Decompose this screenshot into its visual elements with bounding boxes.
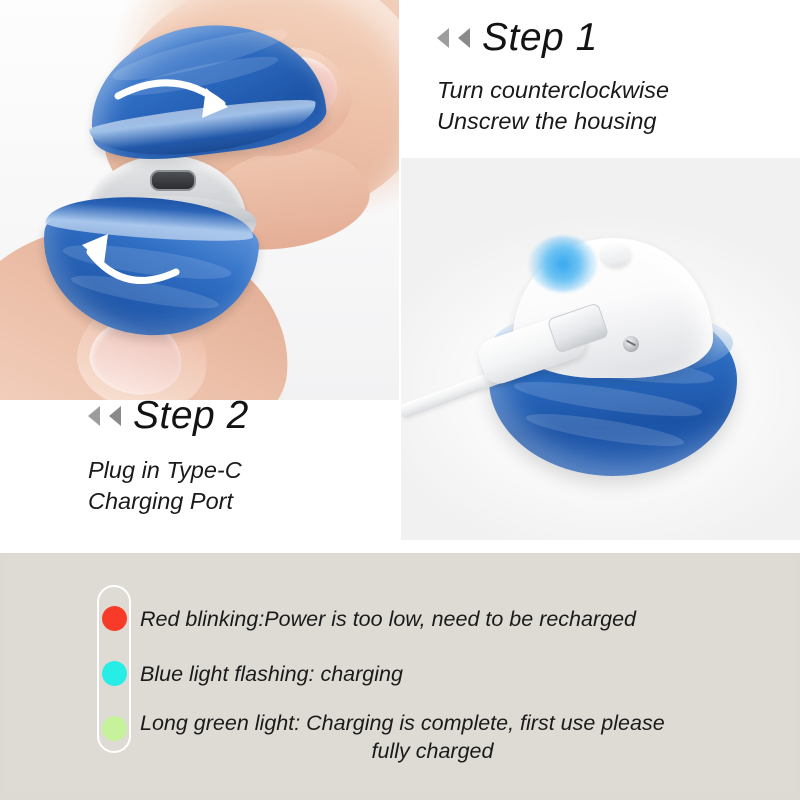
scene-charging xyxy=(401,158,800,540)
step-1-heading: Step 1 xyxy=(437,18,787,57)
step-1-title: Step 1 xyxy=(482,18,598,57)
step-2-description: Plug in Type-C Charging Port xyxy=(88,455,408,517)
step-1-description: Turn counterclockwise Unscrew the housin… xyxy=(437,75,787,137)
dome-button xyxy=(601,243,631,267)
product-instruction-sheet: Step 1 Turn counterclockwise Unscrew the… xyxy=(0,0,800,800)
step-2-text: Step 2 Plug in Type-C Charging Port xyxy=(88,396,408,517)
legend-text-red: Red blinking:Power is too low, need to b… xyxy=(140,606,740,634)
triangle-left-icon xyxy=(109,406,121,426)
legend-text-green: Long green light: Charging is complete, … xyxy=(140,710,725,766)
led-indicator-glow xyxy=(529,236,597,292)
screw-icon xyxy=(623,336,639,352)
legend-text-green-line2: fully charged xyxy=(140,738,725,766)
step-1-text: Step 1 Turn counterclockwise Unscrew the… xyxy=(437,18,787,137)
legend-text-green-line1: Long green light: Charging is complete, … xyxy=(140,710,725,738)
scene-unscrewing xyxy=(0,0,399,400)
rotation-arrows xyxy=(0,0,399,400)
step-2-title: Step 2 xyxy=(133,396,249,435)
triangle-left-icon xyxy=(437,28,449,48)
status-dot-green xyxy=(102,716,127,741)
legend-text-blue: Blue light flashing: charging xyxy=(140,661,740,689)
triangle-left-icon xyxy=(458,28,470,48)
step-2-heading: Step 2 xyxy=(88,396,408,435)
photo-charging xyxy=(401,158,800,540)
status-dot-cyan xyxy=(102,661,127,686)
triangle-left-icon xyxy=(88,406,100,426)
status-dot-red xyxy=(102,606,127,631)
photo-unscrewing-ball xyxy=(0,0,399,400)
